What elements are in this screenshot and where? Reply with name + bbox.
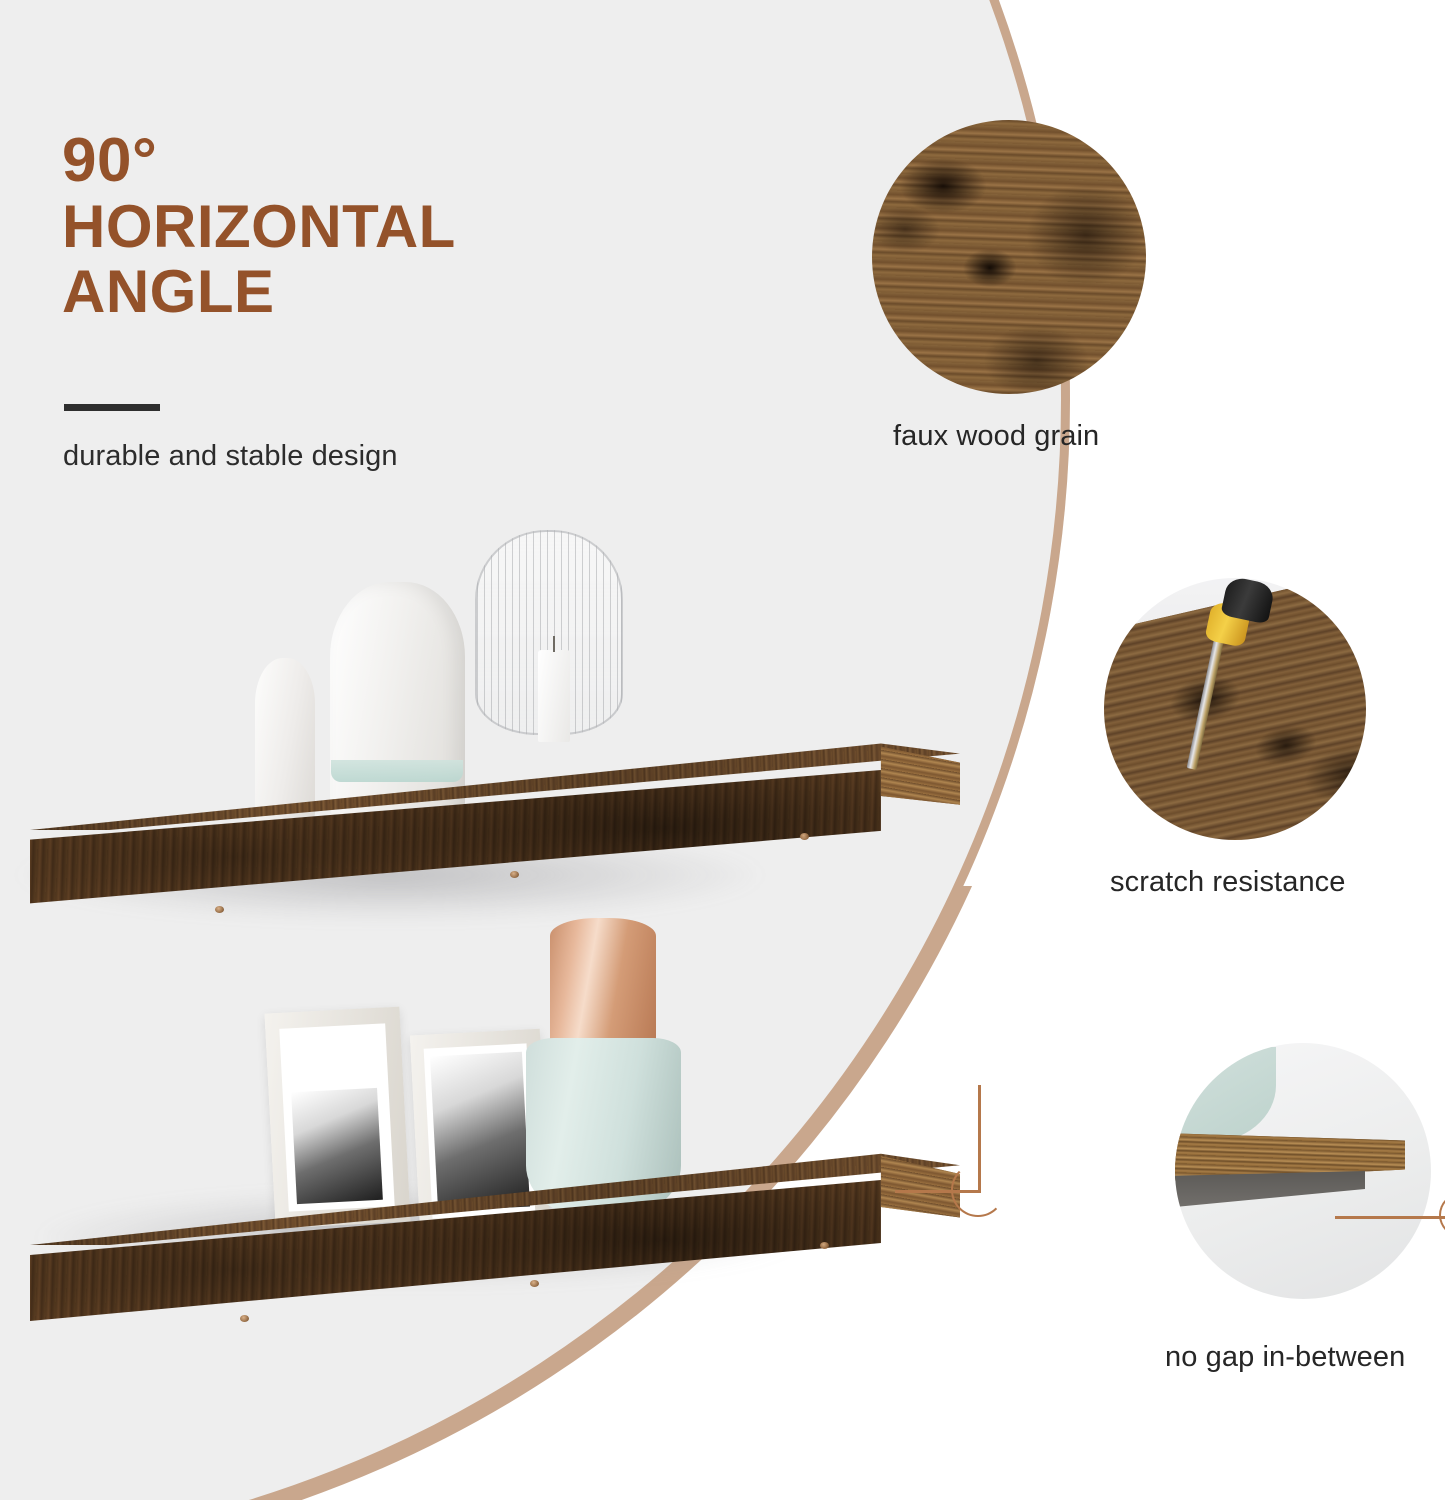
feature-label-no-gap-in-between: no gap in-between	[1165, 1341, 1405, 1374]
feature-label-faux-wood-grain: faux wood grain	[893, 420, 1099, 453]
photo-frame-left-image	[291, 1088, 383, 1204]
headline-degrees: 90°	[62, 128, 682, 195]
no-gap-circle	[1175, 1043, 1431, 1299]
upper-shelf-screw	[215, 906, 224, 913]
headline-horizontal: HORIZONTAL	[62, 195, 682, 260]
upper-shelf-screw	[510, 871, 519, 878]
upper-shelf-screw	[800, 833, 809, 840]
lower-shelf	[30, 980, 990, 1300]
shelf-scene	[0, 500, 1010, 1320]
mint-copper-vase-neck	[550, 918, 656, 1046]
feature-no-gap-in-between: no gap in-between	[1175, 1043, 1445, 1403]
right-angle-marker-arc	[951, 1163, 1005, 1217]
wood-grain-texture	[872, 120, 1146, 394]
lower-shelf-screw	[820, 1242, 829, 1249]
lower-shelf-screw	[240, 1315, 249, 1322]
feature-faux-wood-grain: faux wood grain	[872, 120, 1172, 480]
feature-scratch-resistance: scratch resistance	[1104, 578, 1404, 928]
upper-shelf	[0, 630, 960, 930]
pillar-candle	[538, 650, 570, 742]
headline-divider	[64, 404, 160, 411]
headline-block: 90° HORIZONTAL ANGLE	[62, 128, 682, 325]
lower-shelf-screw	[530, 1280, 539, 1287]
product-feature-image: 90° HORIZONTAL ANGLE durable and stable …	[0, 0, 1445, 1500]
feature-label-scratch-resistance: scratch resistance	[1110, 866, 1346, 899]
no-gap-marker-horizontal	[1335, 1216, 1445, 1219]
faux-wood-grain-circle	[872, 120, 1146, 394]
headline-angle: ANGLE	[62, 260, 682, 325]
no-gap-marker-arc	[1439, 1193, 1445, 1237]
no-gap-right-angle-marker	[1397, 1131, 1445, 1221]
photo-frame-right-image	[430, 1052, 530, 1212]
white-vase-tall-band	[331, 760, 463, 782]
headline-subtitle: durable and stable design	[63, 440, 398, 473]
pillar-candle-wick	[553, 636, 555, 652]
scratch-resistance-circle	[1104, 578, 1366, 840]
right-angle-marker	[895, 1085, 1000, 1195]
